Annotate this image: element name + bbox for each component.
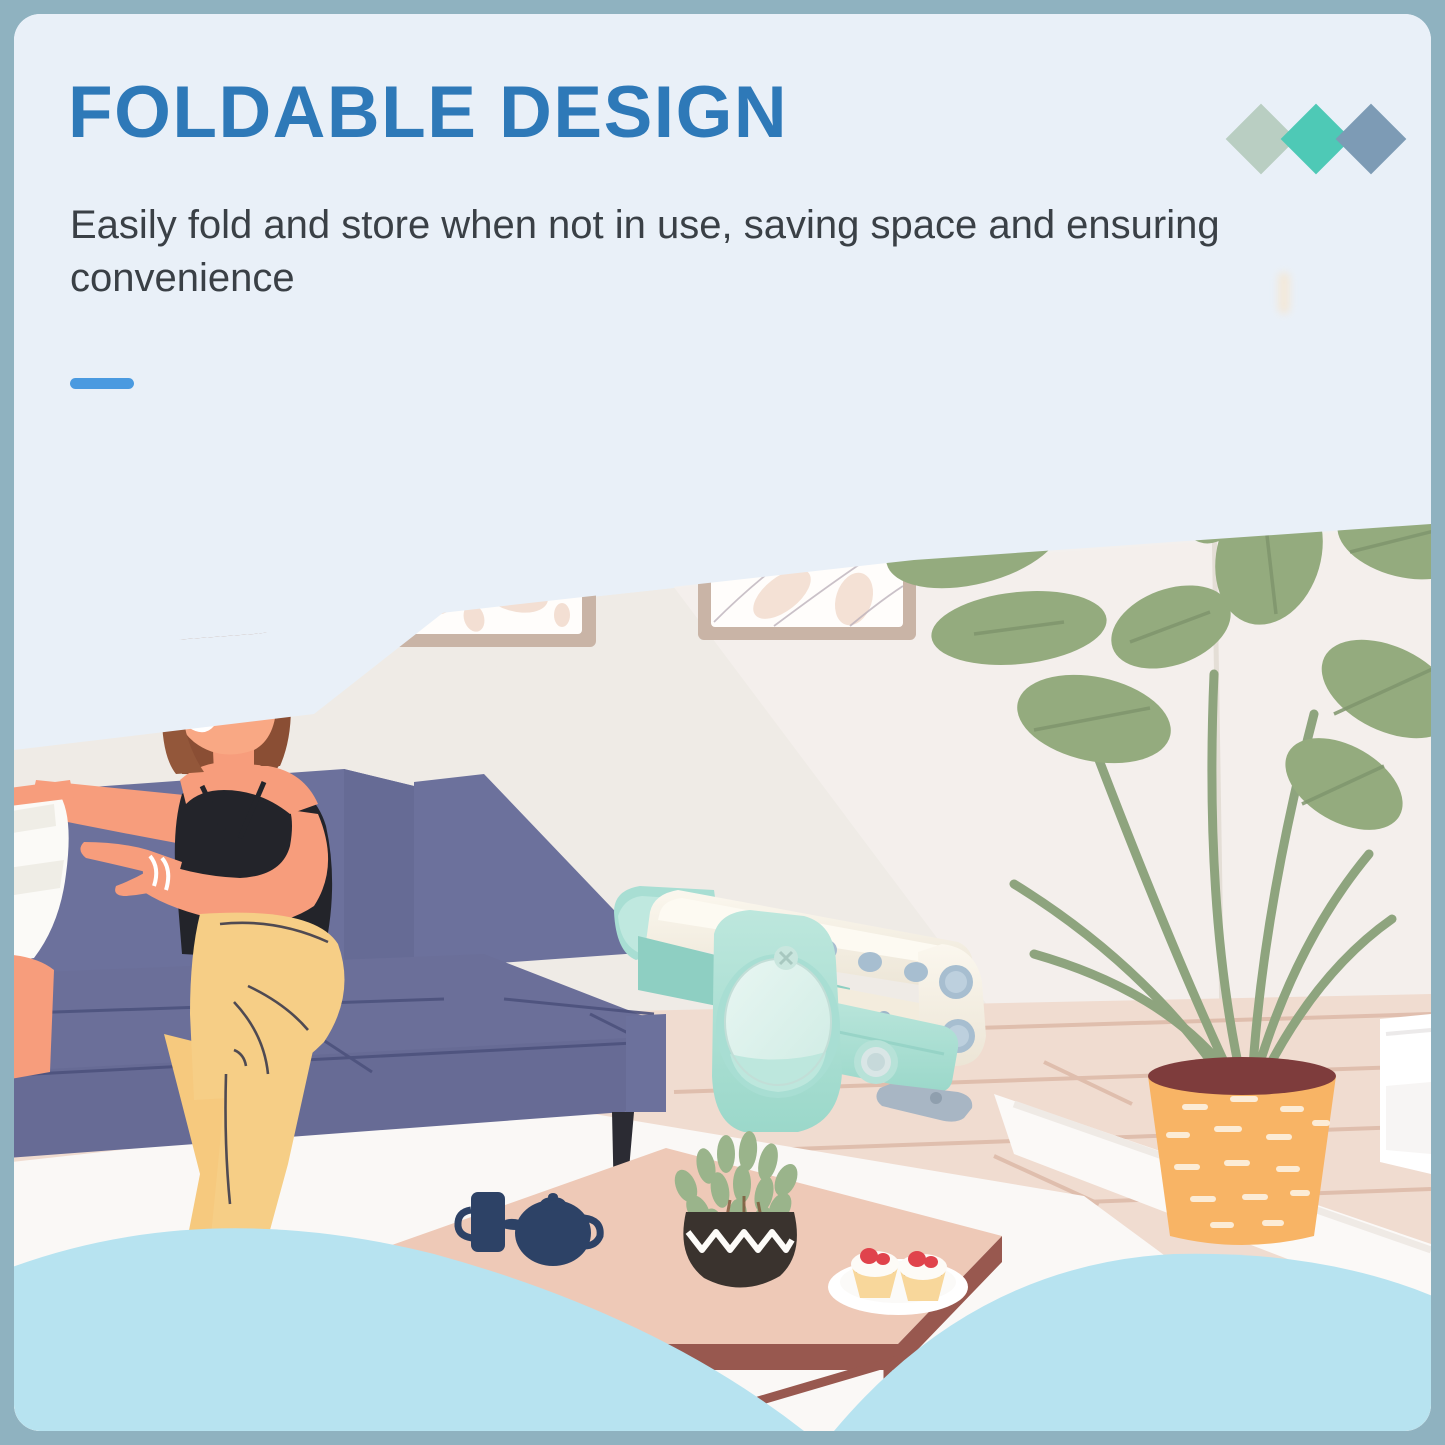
page-title: FOLDABLE DESIGN <box>68 76 788 149</box>
pot-soil <box>1148 1057 1336 1095</box>
outer-frame: FOLDABLE DESIGN Easily fold and store wh… <box>0 0 1445 1445</box>
promo-card: FOLDABLE DESIGN Easily fold and store wh… <box>14 14 1431 1431</box>
accent-dash <box>70 378 134 389</box>
diamond-decoration-group <box>1232 104 1392 176</box>
decor-smudge <box>1278 272 1290 314</box>
cupcake-left <box>851 1248 899 1298</box>
cupcake-right <box>899 1251 947 1301</box>
side-cabinet <box>1380 1014 1431 1174</box>
page-subtitle: Easily fold and store when not in use, s… <box>70 199 1300 305</box>
